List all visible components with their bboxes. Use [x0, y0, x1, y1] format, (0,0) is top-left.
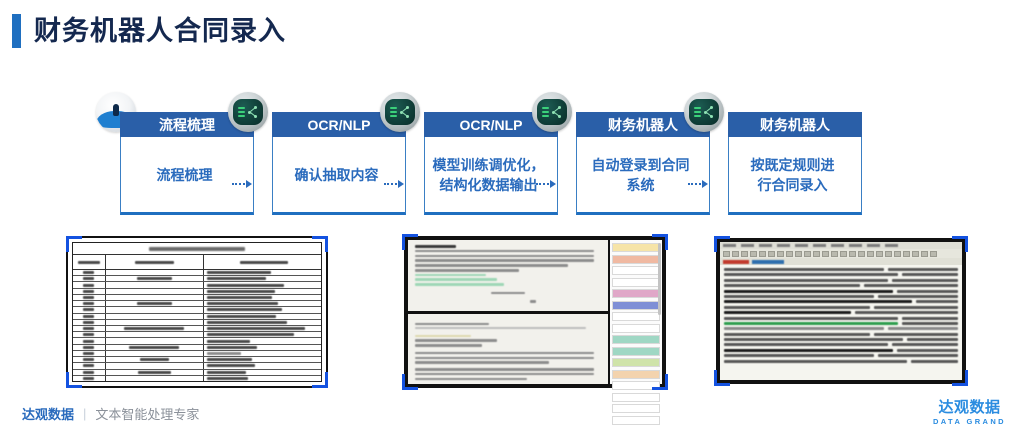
- logo-english-text: DATA GRAND: [933, 416, 1006, 427]
- flow-step-5[interactable]: 财务机器人 按既定规则进 行合同录入: [728, 112, 862, 215]
- editor-toolbar[interactable]: [720, 249, 962, 258]
- screenshot-code-editor[interactable]: [716, 238, 966, 384]
- flow-step-3-header-text: OCR/NLP: [460, 117, 523, 133]
- table-title: [73, 243, 321, 255]
- label-item[interactable]: [612, 312, 660, 321]
- flow-step-3[interactable]: OCR/NLP 模型训练调优化， 结构化数据输出: [424, 112, 558, 215]
- selection-handle-top-left[interactable]: [66, 236, 82, 252]
- selection-handle-bottom-left[interactable]: [402, 374, 418, 390]
- code-line: [724, 343, 958, 346]
- code-line: [724, 273, 958, 276]
- screenshot-contract-table[interactable]: [66, 236, 328, 388]
- selection-handle-bottom-right[interactable]: [652, 374, 668, 390]
- flow-step-5-header-text: 财务机器人: [760, 115, 830, 135]
- code-line: [724, 290, 958, 293]
- contract-table: [72, 242, 322, 382]
- flow-step-4-body: 自动登录到合同 系统: [577, 137, 709, 212]
- connector-4-5: [688, 180, 708, 188]
- code-line: [724, 349, 958, 352]
- label-item[interactable]: [612, 301, 660, 310]
- label-sidebar[interactable]: [610, 240, 662, 384]
- selection-handle-top-left[interactable]: [402, 234, 418, 250]
- code-line: [724, 295, 958, 298]
- footer-separator: |: [83, 406, 86, 421]
- label-item[interactable]: [612, 358, 660, 367]
- ai-chip-icon: [532, 92, 572, 132]
- document-page-bottom: [408, 314, 608, 385]
- editor-window: [720, 242, 962, 380]
- logo-chinese-text: 达观数据: [933, 400, 1006, 416]
- selection-handle-bottom-left[interactable]: [66, 372, 82, 388]
- document-viewer[interactable]: [408, 240, 608, 384]
- title-accent-bar: [12, 14, 21, 48]
- label-item[interactable]: [612, 324, 660, 333]
- editor-content[interactable]: [720, 265, 962, 380]
- code-line: [724, 338, 958, 341]
- company-logo: 达观数据 DATA GRAND: [933, 400, 1006, 427]
- code-line: [724, 284, 958, 287]
- label-item[interactable]: [612, 393, 660, 402]
- ai-chip-icon: [380, 92, 420, 132]
- flow-step-5-body: 按既定规则进 行合同录入: [729, 137, 861, 212]
- flow-step-4-body-text: 自动登录到合同 系统: [574, 155, 707, 195]
- code-line: [724, 311, 958, 314]
- footer-branding: 达观数据 | 文本智能处理专家: [22, 404, 199, 423]
- connector-1-2: [232, 180, 252, 188]
- table-row: [73, 376, 321, 381]
- code-line: [724, 327, 958, 330]
- flow-step-2-body: 确认抽取内容: [273, 137, 405, 212]
- flow-step-2[interactable]: OCR/NLP 确认抽取内容: [272, 112, 406, 215]
- label-item[interactable]: [612, 416, 660, 425]
- code-line: [724, 306, 958, 309]
- screenshot-annotation-tool[interactable]: [404, 236, 666, 388]
- flow-step-3-body-text: 模型训练调优化， 结构化数据输出: [422, 155, 555, 195]
- code-line-highlighted: [724, 322, 958, 325]
- label-item[interactable]: [612, 278, 660, 287]
- code-line: [724, 333, 958, 336]
- selection-handle-top-right[interactable]: [312, 236, 328, 252]
- sidebar-scrollbar[interactable]: [658, 243, 661, 315]
- document-page-top: [408, 240, 608, 311]
- flow-step-3-body: 模型训练调优化， 结构化数据输出: [425, 137, 557, 212]
- flow-step-5-body-text: 按既定规则进 行合同录入: [726, 155, 859, 195]
- selection-handle-bottom-right[interactable]: [312, 372, 328, 388]
- code-line: [724, 360, 958, 363]
- editor-tab-bar[interactable]: [720, 258, 962, 265]
- flow-step-2-header-text: OCR/NLP: [308, 117, 371, 133]
- selection-handle-top-right[interactable]: [952, 236, 968, 252]
- editor-menu-bar[interactable]: [720, 242, 962, 249]
- flow-step-1-header-text: 流程梳理: [159, 115, 215, 135]
- selection-handle-bottom-left[interactable]: [714, 370, 730, 386]
- flow-step-1-body: 流程梳理: [121, 137, 253, 212]
- selection-handle-top-left[interactable]: [714, 236, 730, 252]
- ai-chip-icon: [228, 92, 268, 132]
- table-header-row: [73, 255, 321, 270]
- page-title-text: 财务机器人合同录入: [34, 14, 286, 48]
- flow-step-1[interactable]: 流程梳理 流程梳理: [120, 112, 254, 215]
- connector-3-4: [536, 180, 556, 188]
- label-item[interactable]: [612, 289, 660, 298]
- selection-handle-top-right[interactable]: [652, 234, 668, 250]
- flow-step-5-header: 财务机器人: [728, 112, 862, 137]
- process-flow: 流程梳理 流程梳理 OCR/NLP 确认抽取内容 OCR/NLP: [0, 92, 1024, 224]
- footer-brand-name: 达观数据: [22, 404, 74, 423]
- label-item[interactable]: [612, 266, 660, 275]
- flow-step-4[interactable]: 财务机器人 自动登录到合同 系统: [576, 112, 710, 215]
- page-title: 财务机器人合同录入: [12, 14, 286, 48]
- footer-tagline: 文本智能处理专家: [95, 404, 199, 423]
- connector-2-3: [384, 180, 404, 188]
- selection-handle-bottom-right[interactable]: [952, 370, 968, 386]
- code-line: [724, 268, 958, 271]
- code-line: [724, 317, 958, 320]
- label-item[interactable]: [612, 335, 660, 344]
- code-line: [724, 300, 958, 303]
- ai-chip-icon: [684, 92, 724, 132]
- flow-step-4-header-text: 财务机器人: [608, 115, 678, 135]
- label-item[interactable]: [612, 255, 660, 264]
- code-line: [724, 279, 958, 282]
- label-item[interactable]: [612, 347, 660, 356]
- label-item[interactable]: [612, 404, 660, 413]
- code-line: [724, 354, 958, 357]
